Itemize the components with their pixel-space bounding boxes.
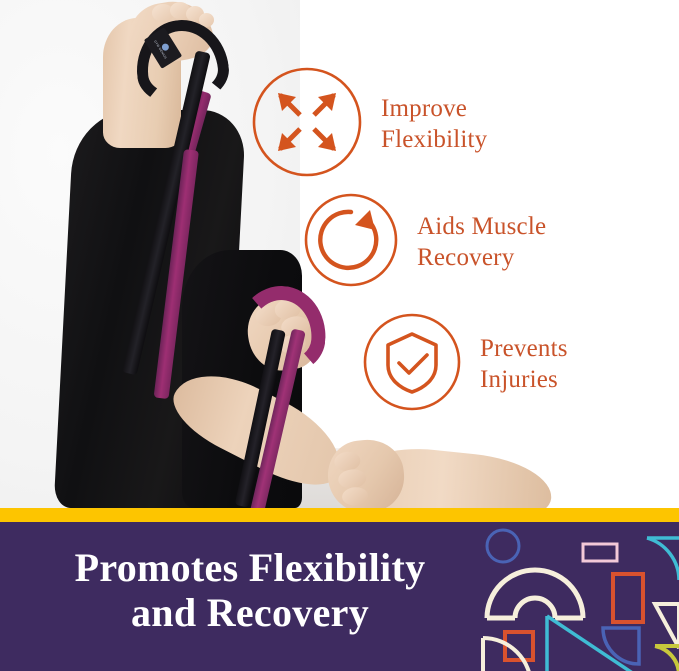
decor-arc-cyan — [647, 538, 679, 580]
product-photo: GYM GENIUS — [0, 0, 679, 508]
decor-circle — [487, 530, 519, 562]
decor-arch-outer — [487, 570, 583, 618]
feature-improve-flexibility: Improve Flexibility — [251, 66, 487, 183]
feature-label: Prevents Injuries — [480, 334, 568, 395]
decor-arch-inner — [515, 598, 555, 618]
decor-rect-pink — [583, 544, 617, 561]
product-marketing-image: GYM GENIUS — [0, 0, 679, 671]
hand-gripping-strap-lower — [324, 436, 407, 508]
rotate-arrow-icon — [303, 192, 399, 293]
decor-triangle-cream — [655, 604, 679, 648]
expand-arrows-icon — [251, 66, 363, 183]
banner-geometric-decoration — [479, 522, 679, 671]
feature-prevents-injuries: Prevents Injuries — [362, 312, 568, 417]
banner-headline: Promotes Flexibility and Recovery — [0, 546, 500, 636]
decor-arc-olive — [655, 646, 679, 671]
banner-yellow-stripe — [0, 508, 679, 522]
decor-rect-orange — [613, 574, 643, 622]
knuckle — [341, 486, 369, 507]
feature-label: Improve Flexibility — [381, 94, 487, 155]
feature-label: Aids Muscle Recovery — [417, 212, 546, 273]
bottom-banner: Promotes Flexibility and Recovery — [0, 508, 679, 671]
feature-aids-muscle-recovery: Aids Muscle Recovery — [303, 192, 546, 293]
shield-check-icon — [362, 312, 462, 417]
